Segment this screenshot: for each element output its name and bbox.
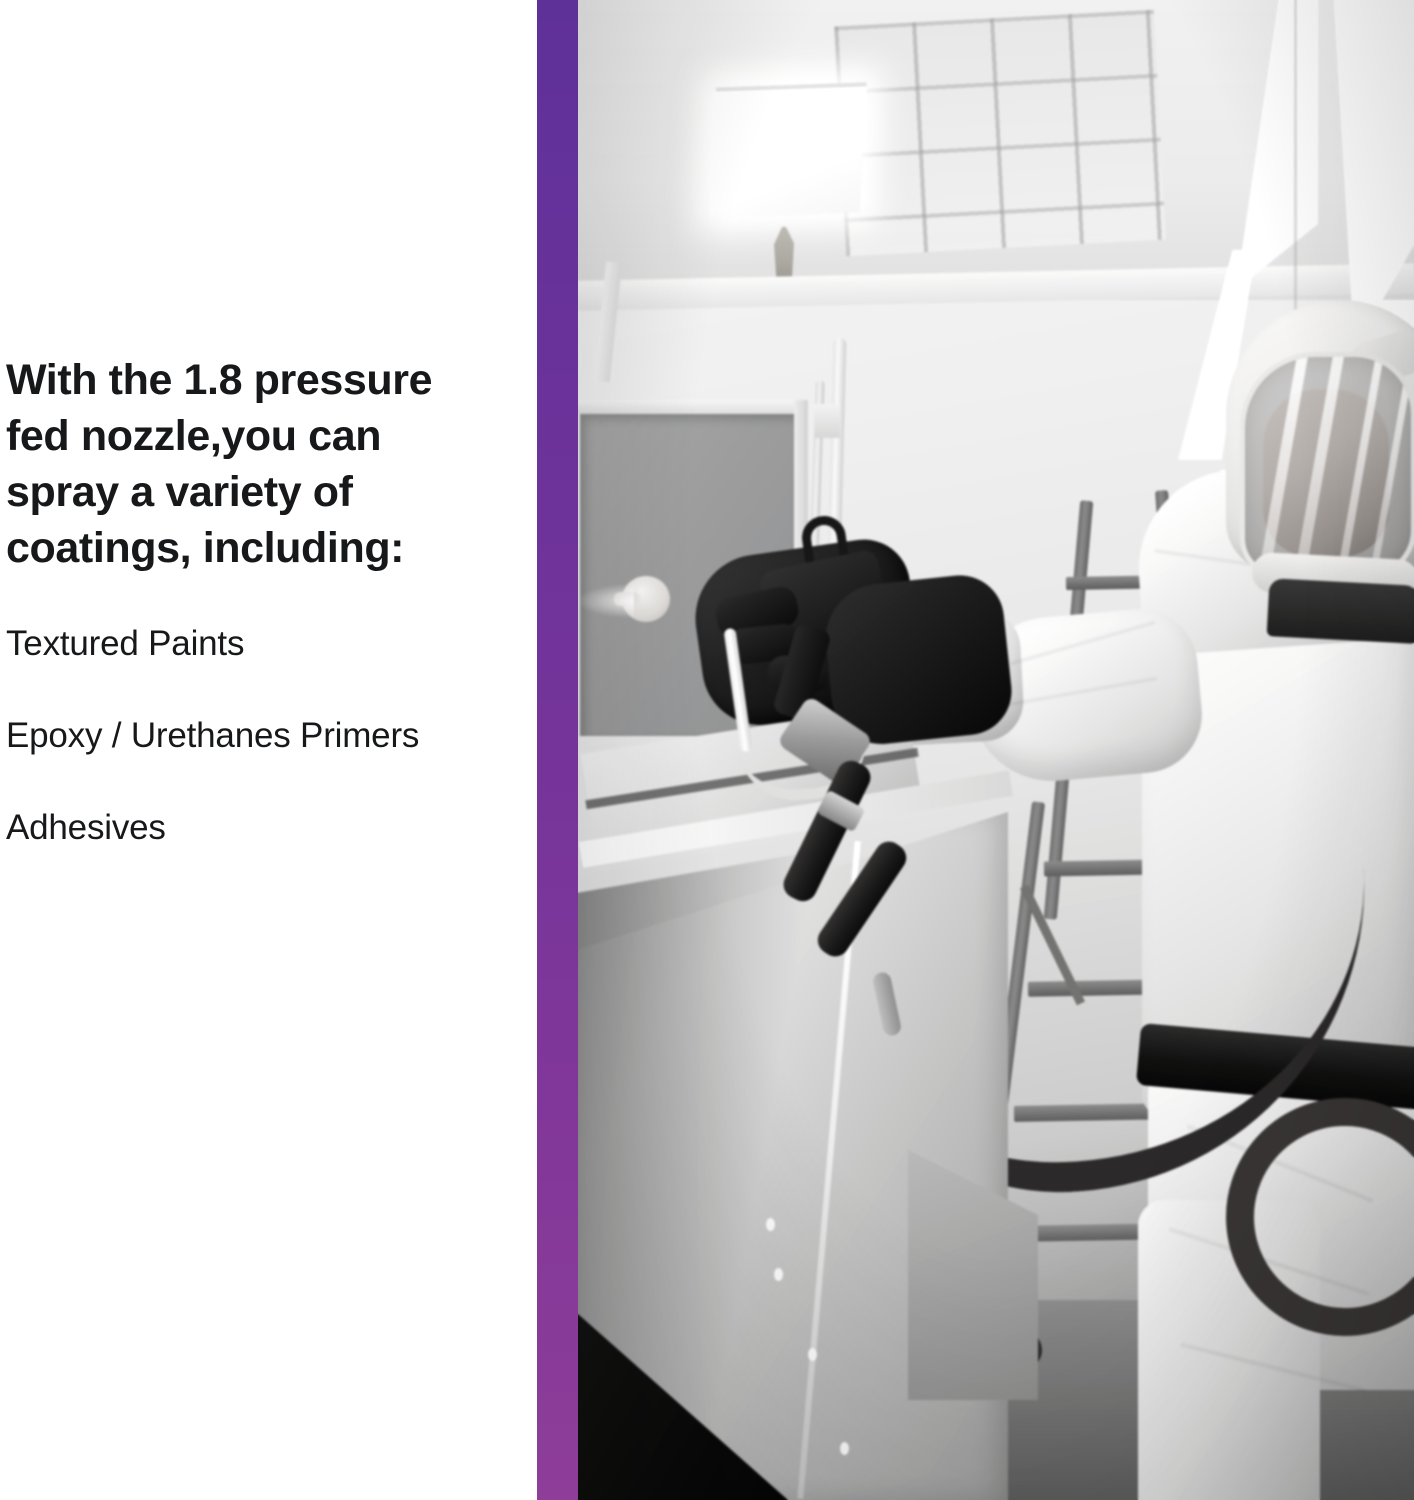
door-frame (578, 400, 804, 414)
workpiece-rivet (766, 1218, 775, 1231)
list-item: Adhesives (6, 804, 506, 852)
hood-neck-seal (1267, 578, 1414, 644)
coating-type-list: Textured Paints Epoxy / Urethanes Primer… (6, 620, 506, 852)
workpiece-rivet (840, 1442, 849, 1455)
wall-bracket (814, 404, 840, 438)
ceiling-light-panel (709, 82, 866, 217)
workpiece-rivet (774, 1268, 783, 1281)
ceiling-filter-grid (834, 10, 1166, 256)
hood-face-shield (1240, 352, 1414, 578)
page-title: With the 1.8 pressure fed nozzle,you can… (6, 352, 496, 576)
list-item: Textured Paints (6, 620, 506, 668)
spray-booth-photo (578, 0, 1414, 1500)
list-item: Epoxy / Urethanes Primers (6, 712, 506, 760)
promo-slide: With the 1.8 pressure fed nozzle,you can… (0, 0, 1414, 1500)
workpiece-rivet (808, 1348, 817, 1361)
spray-mist (578, 584, 634, 618)
purple-gradient-divider (537, 0, 578, 1500)
text-panel: With the 1.8 pressure fed nozzle,you can… (0, 0, 537, 1500)
copy-block: With the 1.8 pressure fed nozzle,you can… (6, 352, 506, 852)
